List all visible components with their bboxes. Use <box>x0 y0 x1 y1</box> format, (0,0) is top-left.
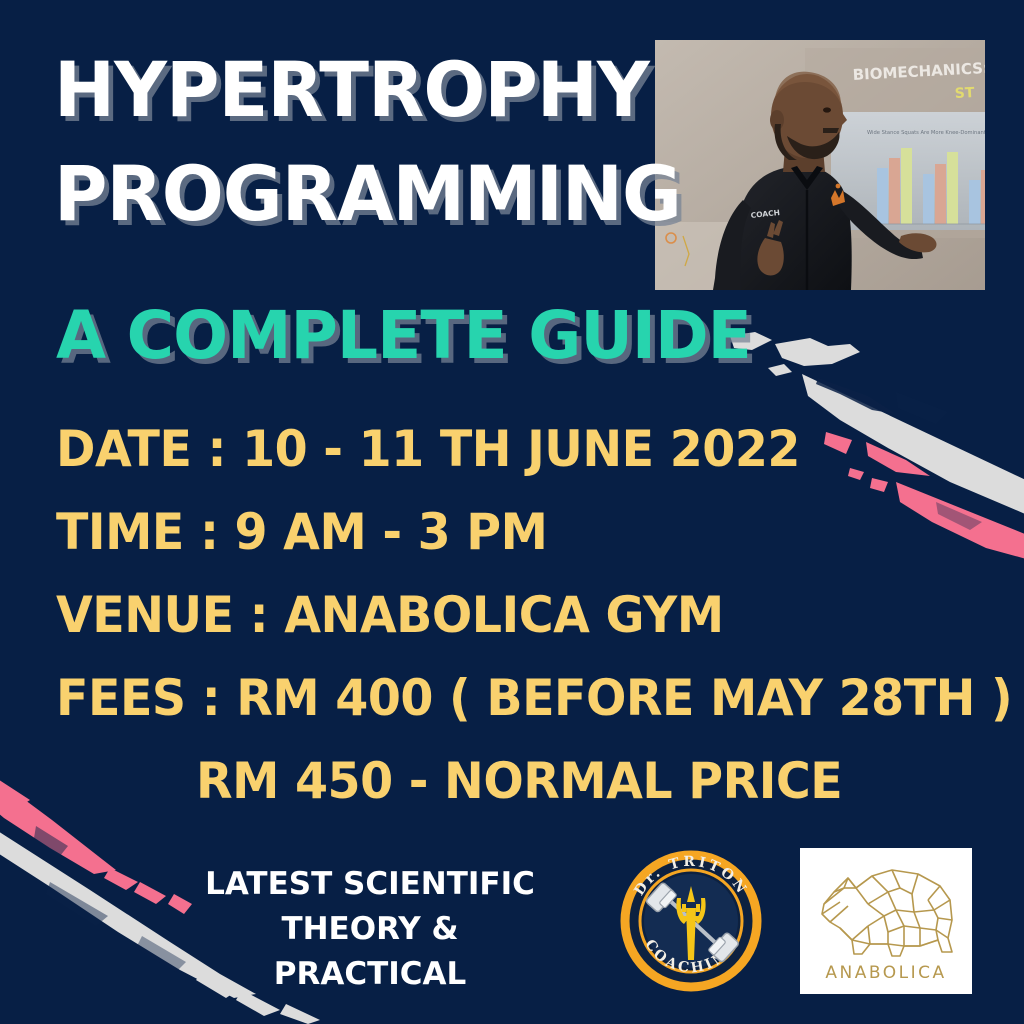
anabolica-wordmark: ANABOLICA <box>825 963 946 983</box>
slide-chart-caption: Wide Stance Squats Are More Knee-Dominan… <box>867 130 985 136</box>
poster-title-line-1: HYPERTROPHY <box>54 52 630 128</box>
tagline: LATEST SCIENTIFIC THEORY & PRACTICAL <box>135 862 605 997</box>
presenter-photo: BIOMECHANICS: S ST Wide Stance Squats Ar… <box>655 40 985 290</box>
detail-line-time: TIME : 9 AM - 3 PM <box>56 507 930 557</box>
slide-subtitle-text: ST <box>954 85 975 102</box>
headline-block: HYPERTROPHY PROGRAMMING <box>54 52 654 232</box>
tagline-line-2: PRACTICAL <box>135 952 605 997</box>
detail-line-normal-price: RM 450 - NORMAL PRICE <box>196 756 937 806</box>
dr-triton-coaching-logo: Dr. TRITON COACHING <box>620 850 762 992</box>
event-details-list: DATE : 10 - 11 TH JUNE 2022 TIME : 9 AM … <box>56 424 976 806</box>
detail-line-venue: VENUE : ANABOLICA GYM <box>56 590 930 640</box>
poster-canvas: BIOMECHANICS: S ST Wide Stance Squats Ar… <box>0 0 1024 1024</box>
tagline-line-1: LATEST SCIENTIFIC THEORY & <box>135 862 605 952</box>
anabolica-logo: ANABOLICA <box>800 848 972 994</box>
detail-line-fees: FEES : RM 400 ( BEFORE MAY 28TH ) <box>56 673 930 723</box>
poster-subtitle: A COMPLETE GUIDE <box>56 303 751 369</box>
poster-title-line-2: PROGRAMMING <box>54 156 630 232</box>
detail-line-date: DATE : 10 - 11 TH JUNE 2022 <box>56 424 930 474</box>
